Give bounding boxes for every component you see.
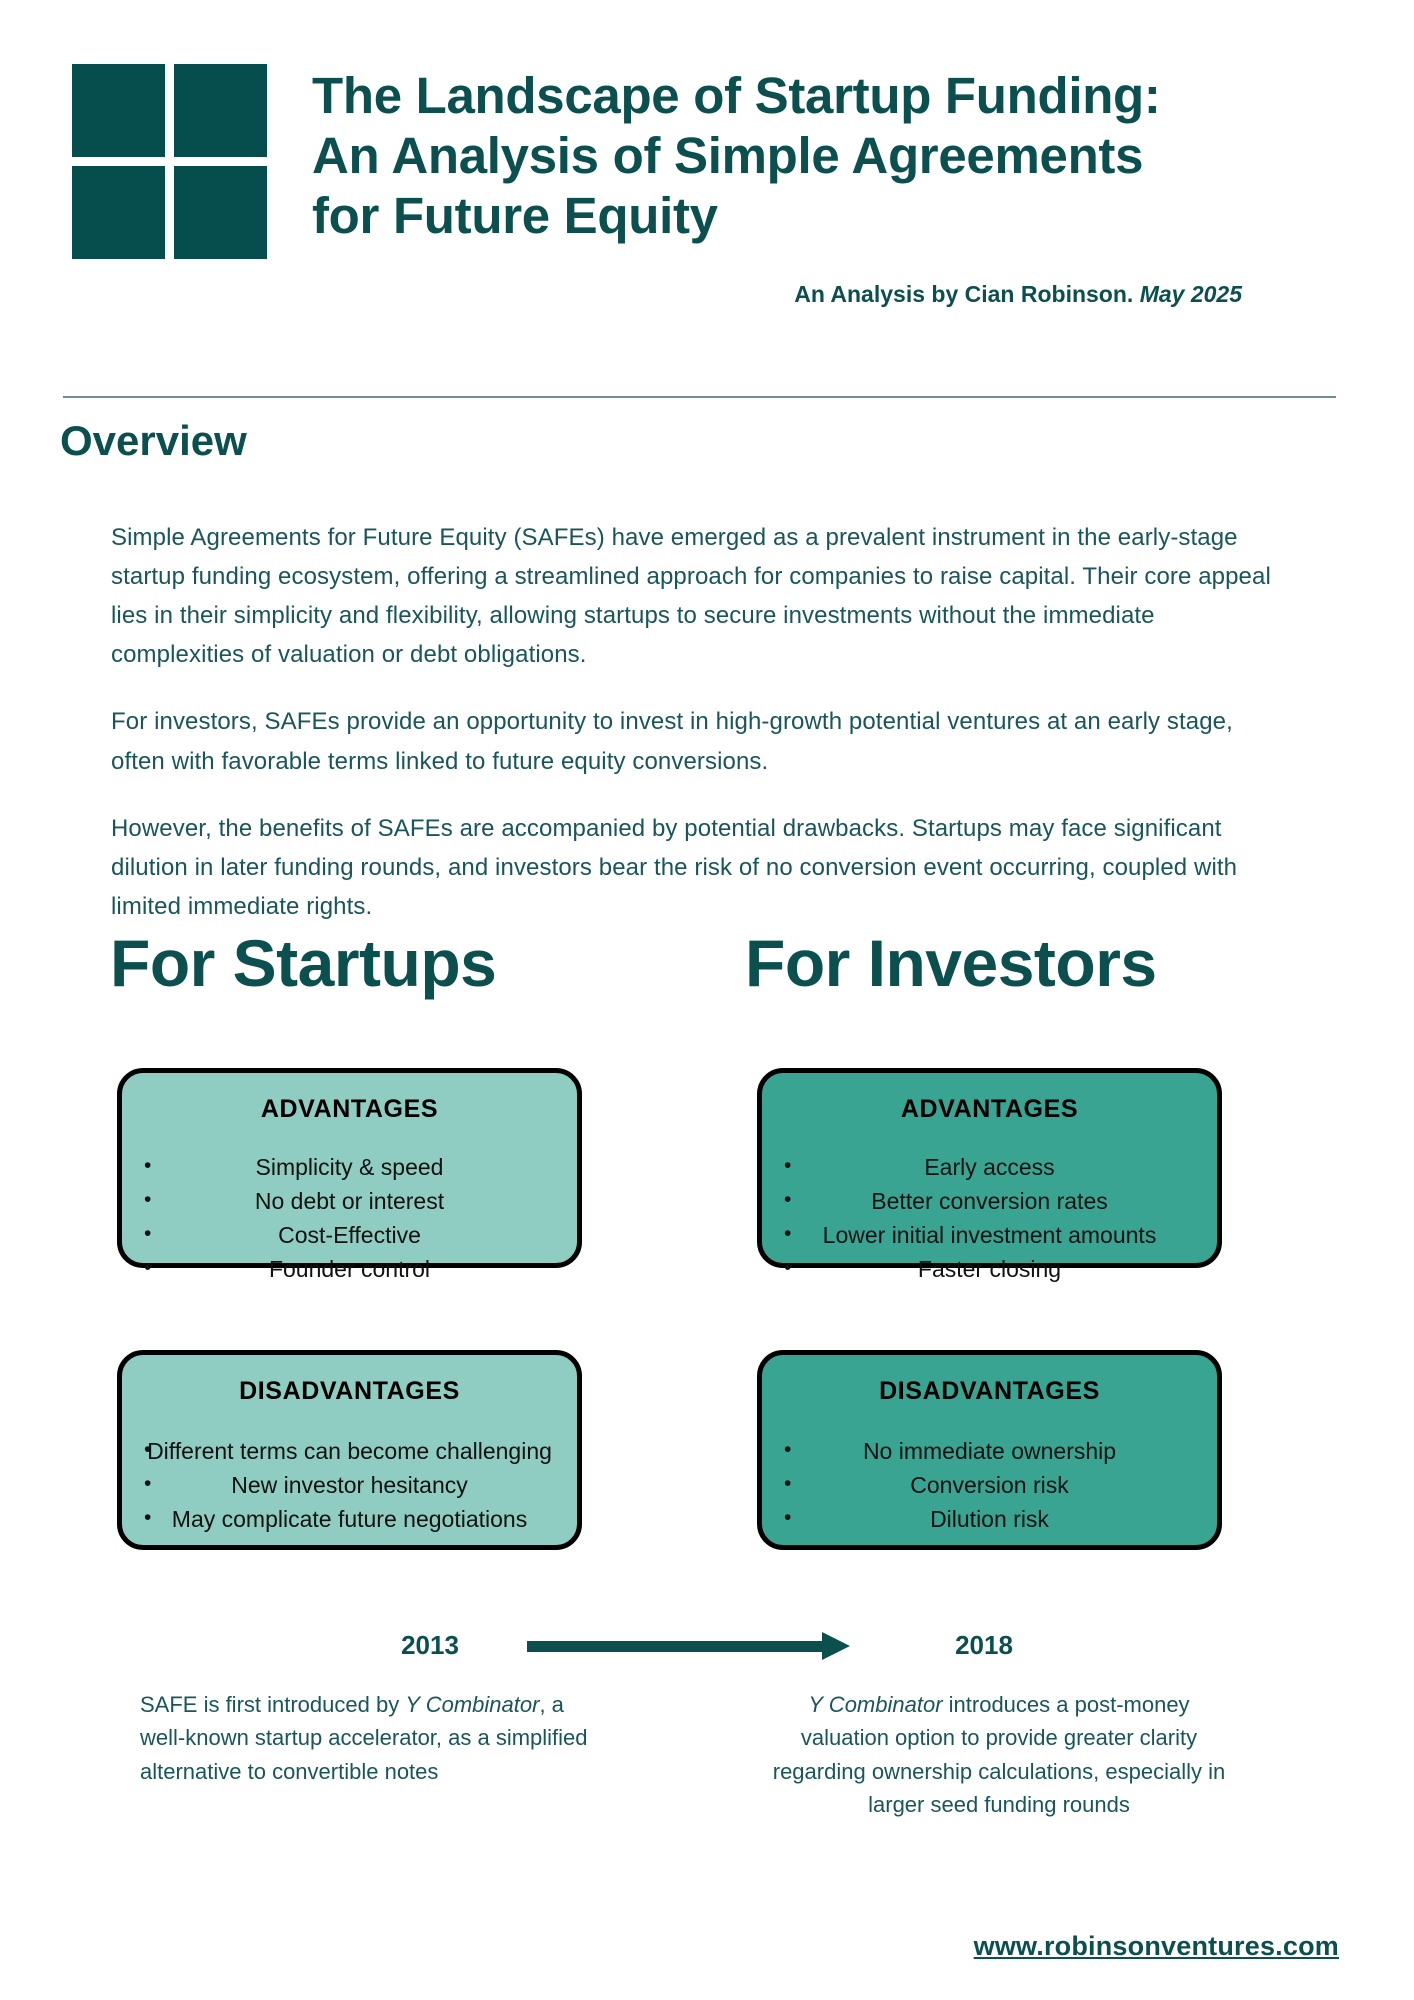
card-list: No immediate ownershipConversion riskDil… [776, 1434, 1203, 1536]
card-list-item: New investor hesitancy [136, 1468, 563, 1502]
website-link[interactable]: www.robinsonventures.com [974, 1931, 1339, 1961]
card-title: ADVANTAGES [136, 1095, 563, 1124]
card-list-item: May complicate future negotiations [136, 1502, 563, 1536]
card-list-item: Faster closing [776, 1252, 1203, 1286]
card-investor-disadvantages: DISADVANTAGES No immediate ownershipConv… [757, 1350, 1222, 1550]
card-list-item: No immediate ownership [776, 1434, 1203, 1468]
arrow-shaft [527, 1641, 827, 1652]
card-startup-disadvantages: DISADVANTAGES Different terms can become… [117, 1350, 582, 1550]
card-list-item: No debt or interest [136, 1184, 563, 1218]
card-investor-advantages: ADVANTAGES Early accessBetter conversion… [757, 1068, 1222, 1268]
logo-square-bottom-right [174, 166, 267, 259]
card-list-item: Lower initial investment amounts [776, 1218, 1203, 1252]
overview-paragraph-2: For investors, SAFEs provide an opportun… [111, 702, 1281, 780]
byline-date: May 2025 [1140, 281, 1242, 307]
logo-square-bottom-left [72, 166, 165, 259]
byline: An Analysis by Cian Robinson. May 2025 [312, 281, 1354, 308]
page-title: The Landscape of Startup Funding: An Ana… [312, 66, 1167, 247]
card-list: Early accessBetter conversion ratesLower… [776, 1150, 1203, 1286]
card-title: DISADVANTAGES [136, 1377, 563, 1406]
overview-paragraph-3: However, the benefits of SAFEs are accom… [111, 809, 1281, 926]
card-list: Simplicity & speedNo debt or interestCos… [136, 1150, 563, 1286]
card-list-item: Simplicity & speed [136, 1150, 563, 1184]
timeline-start-year: 2013 [345, 1630, 515, 1661]
column-heading-startups: For Startups [110, 925, 496, 1001]
card-title: ADVANTAGES [776, 1095, 1203, 1124]
card-list-item: Dilution risk [776, 1502, 1203, 1536]
card-list-item: Conversion risk [776, 1468, 1203, 1502]
infographic-page: The Landscape of Startup Funding: An Ana… [0, 0, 1414, 2000]
card-list-item: Cost-Effective [136, 1218, 563, 1252]
overview-body: Simple Agreements for Future Equity (SAF… [111, 518, 1281, 926]
card-startup-advantages: ADVANTAGES Simplicity & speedNo debt or … [117, 1068, 582, 1268]
card-list-item: Founder control [136, 1252, 563, 1286]
footer: www.robinsonventures.com [0, 1931, 1414, 1962]
header-divider [63, 396, 1336, 398]
timeline-end-year: 2018 [899, 1630, 1069, 1661]
timeline-description-2013: SAFE is first introduced by Y Combinator… [140, 1688, 610, 1822]
overview-heading: Overview [60, 417, 247, 465]
title-block: The Landscape of Startup Funding: An Ana… [312, 58, 1354, 308]
card-list-item: Different terms can become challenging [136, 1434, 563, 1468]
header: The Landscape of Startup Funding: An Ana… [0, 0, 1414, 308]
column-heading-investors: For Investors [745, 925, 1157, 1001]
arrow-head [822, 1632, 850, 1660]
timeline: 2013 2018 SAFE is first introduced by Y … [0, 1630, 1414, 1661]
timeline-year-row: 2013 2018 [0, 1630, 1414, 1661]
byline-author: An Analysis by Cian Robinson. [794, 281, 1133, 307]
card-list-item: Better conversion rates [776, 1184, 1203, 1218]
timeline-description-2018: Y Combinator introduces a post-money val… [764, 1688, 1234, 1822]
robinson-ventures-logo [72, 64, 267, 259]
timeline-description-row: SAFE is first introduced by Y Combinator… [0, 1688, 1414, 1822]
logo-square-top-right [174, 64, 267, 157]
card-title: DISADVANTAGES [776, 1377, 1203, 1406]
card-list-item: Early access [776, 1150, 1203, 1184]
card-list: Different terms can become challengingNe… [136, 1434, 563, 1536]
right-arrow-icon [527, 1632, 887, 1660]
logo-square-top-left [72, 64, 165, 157]
overview-paragraph-1: Simple Agreements for Future Equity (SAF… [111, 518, 1281, 674]
